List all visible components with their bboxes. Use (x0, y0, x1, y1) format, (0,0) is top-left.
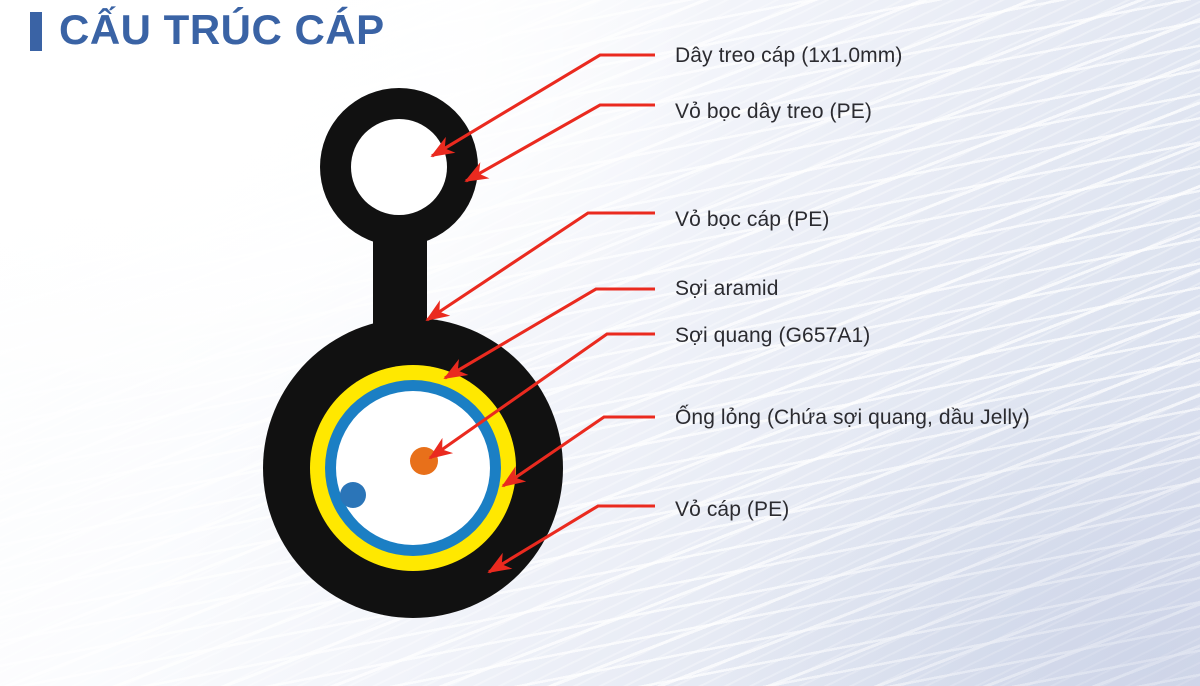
callout-label-aramid-yarn: Sợi aramid (675, 277, 778, 300)
title-bullet-marker (30, 12, 42, 51)
optical-fiber-dot (410, 447, 438, 475)
suspension-wire-core (351, 119, 447, 215)
page-title: CẤU TRÚC CÁP (30, 8, 385, 51)
callout-label-optical-fiber: Sợi quang (G657A1) (675, 324, 870, 347)
callout-label-suspension-wire-jacket: Vỏ bọc dây treo (PE) (675, 100, 872, 123)
callout-label-cable-jacket-pe: Vỏ bọc cáp (PE) (675, 208, 829, 231)
callout-label-loose-tube: Ống lỏng (Chứa sợi quang, dầu Jelly) (675, 406, 1030, 429)
cable-cross-section-diagram (0, 0, 1200, 686)
fiber-blue-dot (340, 482, 366, 508)
page-title-text: CẤU TRÚC CÁP (59, 9, 385, 51)
callout-label-suspension-wire: Dây treo cáp (1x1.0mm) (675, 44, 902, 67)
slide-canvas: CẤU TRÚC CÁP (0, 0, 1200, 686)
callout-label-cable-sheath-pe: Vỏ cáp (PE) (675, 498, 789, 521)
cable-black-body (200, 60, 700, 660)
